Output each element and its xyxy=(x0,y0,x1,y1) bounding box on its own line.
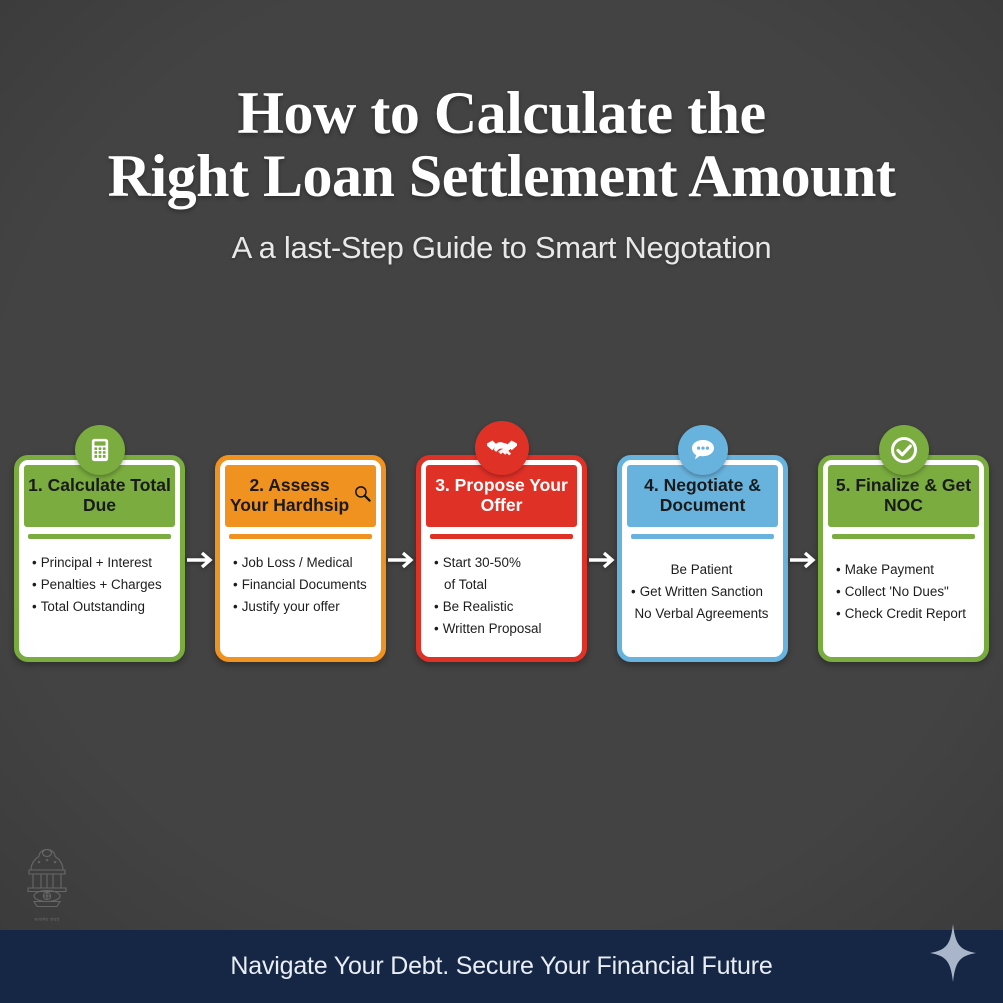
list-item: Start 30-50% xyxy=(434,552,571,574)
magnifier-icon xyxy=(353,484,372,508)
list-item: Financial Documents xyxy=(233,574,370,596)
arrow-right-icon xyxy=(386,455,416,665)
title-line-2: Right Loan Settlement Amount xyxy=(0,145,1003,208)
step-card-2[interactable]: 2. Assess Your Hardhsip Job Loss / Medic… xyxy=(215,455,386,662)
card-title-3: 3. Propose Your Offer xyxy=(430,476,573,516)
speech-bubble-icon xyxy=(678,425,728,475)
process-flow: 1. Calculate Total Due Principal + Inter… xyxy=(14,455,989,665)
national-emblem-icon: सत्यमेव जयते xyxy=(14,835,80,923)
step-card-1[interactable]: 1. Calculate Total Due Principal + Inter… xyxy=(14,455,185,662)
card-body-2: 2. Assess Your Hardhsip Job Loss / Medic… xyxy=(215,455,386,662)
list-item: Be Patient xyxy=(631,559,772,581)
card-bullets-1: Principal + Interest Penalties + Charges… xyxy=(24,539,175,652)
step-card-4[interactable]: 4. Negotiate & Document Be Patient Get W… xyxy=(617,455,788,662)
step-card-3[interactable]: 3. Propose Your Offer Start 30-50% of To… xyxy=(416,455,587,662)
list-item: Get Written Sanction xyxy=(631,581,772,603)
card-bullets-5: Make Payment Collect 'No Dues" Check Cre… xyxy=(828,539,979,652)
card-bullets-4: Be Patient Get Written Sanction No Verba… xyxy=(627,539,778,652)
emblem-caption: सत्यमेव जयते xyxy=(35,917,60,923)
list-item: Make Payment xyxy=(836,559,973,581)
list-item: of Total xyxy=(434,574,571,596)
page-subtitle: A a last-Step Guide to Smart Negotation xyxy=(0,230,1003,266)
title-line-1: How to Calculate the xyxy=(237,80,765,146)
list-item: Job Loss / Medical xyxy=(233,552,370,574)
card-bullets-2: Job Loss / Medical Financial Documents J… xyxy=(225,539,376,652)
check-circle-icon xyxy=(879,425,929,475)
handshake-icon xyxy=(475,421,529,475)
list-item: Total Outstanding xyxy=(32,596,169,618)
list-item: No Verbal Agreements xyxy=(631,603,772,625)
card-title-2: 2. Assess Your Hardhsip xyxy=(229,476,350,516)
list-item: Principal + Interest xyxy=(32,552,169,574)
card-body-5: 5. Finalize & Get NOC Make Payment Colle… xyxy=(818,455,989,662)
list-item: Be Realistic xyxy=(434,596,571,618)
list-item: Check Credit Report xyxy=(836,603,973,625)
header-block: How to Calculate the Right Loan Settleme… xyxy=(0,82,1003,266)
card-header-2: 2. Assess Your Hardhsip xyxy=(225,465,376,527)
arrow-right-icon xyxy=(185,455,215,665)
list-item: Justify your offer xyxy=(233,596,370,618)
calculator-icon xyxy=(75,425,125,475)
infographic-canvas: How to Calculate the Right Loan Settleme… xyxy=(0,0,1003,1003)
page-title: How to Calculate the Right Loan Settleme… xyxy=(0,82,1003,208)
list-item: Collect 'No Dues" xyxy=(836,581,973,603)
footer-tagline: Navigate Your Debt. Secure Your Financia… xyxy=(230,952,772,981)
card-title-5: 5. Finalize & Get NOC xyxy=(832,476,975,516)
sparkle-icon xyxy=(927,922,979,984)
list-item: Penalties + Charges xyxy=(32,574,169,596)
card-body-1: 1. Calculate Total Due Principal + Inter… xyxy=(14,455,185,662)
card-title-1: 1. Calculate Total Due xyxy=(28,476,171,516)
card-body-3: 3. Propose Your Offer Start 30-50% of To… xyxy=(416,455,587,662)
arrow-right-icon xyxy=(788,455,818,665)
card-bullets-3: Start 30-50% of Total Be Realistic Writt… xyxy=(426,539,577,652)
arrow-right-icon xyxy=(587,455,617,665)
step-card-5[interactable]: 5. Finalize & Get NOC Make Payment Colle… xyxy=(818,455,989,662)
card-title-4: 4. Negotiate & Document xyxy=(631,476,774,516)
card-body-4: 4. Negotiate & Document Be Patient Get W… xyxy=(617,455,788,662)
footer-banner: Navigate Your Debt. Secure Your Financia… xyxy=(0,930,1003,1003)
list-item: Written Proposal xyxy=(434,618,571,640)
